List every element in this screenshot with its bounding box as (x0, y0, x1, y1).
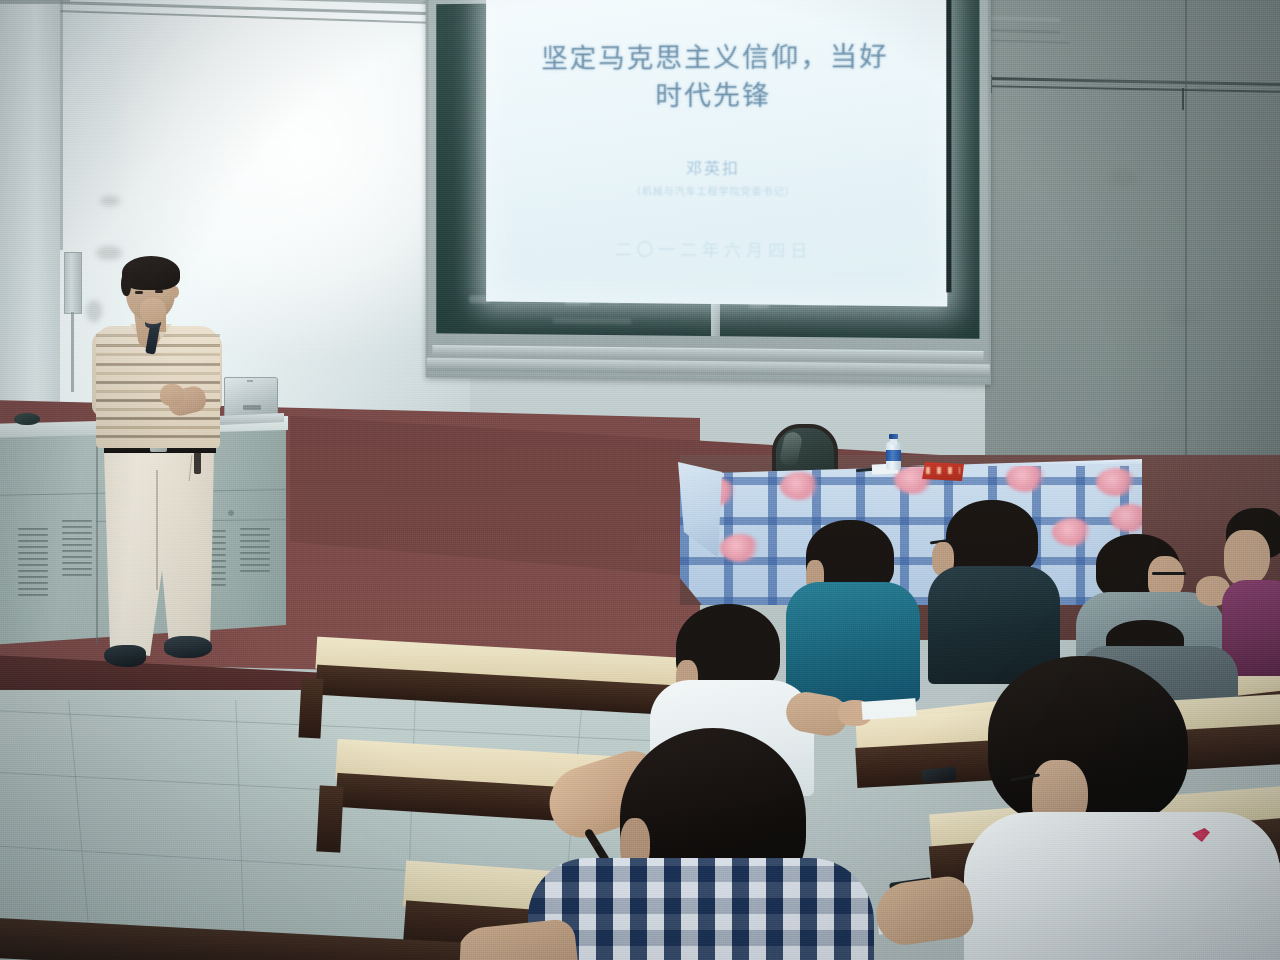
slide-title: 坚定马克思主义信仰，当好 时代先锋 (525, 39, 906, 117)
wall-left-column-edge (60, 0, 63, 250)
laptop-logo (243, 405, 261, 410)
table-name-card-text (926, 467, 960, 474)
chair-behind-head-table (772, 424, 830, 470)
bench-side (298, 677, 323, 738)
laptop-screen (224, 377, 278, 417)
wall-seam (1185, 0, 1187, 470)
computer-mouse (14, 413, 40, 425)
student-forearm (872, 874, 976, 949)
keys-on-belt (194, 452, 201, 474)
slide-author: 邓英扣 (486, 155, 947, 180)
presenter-shoe-right (164, 636, 212, 658)
electrical-box (64, 252, 82, 314)
presenter-hand-holding-mic (140, 298, 166, 324)
paper-on-desk (861, 698, 916, 720)
presenter-gesturing-hand (160, 384, 184, 406)
bench-side (316, 785, 343, 852)
chalkboard-bottom-rail (427, 358, 990, 378)
glasses-icon (1152, 572, 1186, 575)
electrical-conduit (71, 312, 74, 392)
bench-row-2-side (316, 785, 343, 852)
screen-right-edge (946, 0, 951, 292)
lectern-panel-divider (96, 432, 98, 644)
projection-screen: 坚定马克思主义信仰，当好 时代先锋 邓英扣 （机械与汽车工程学院党委书记） 二〇… (486, 0, 947, 307)
presenter-ear (171, 286, 179, 298)
wall-right (985, 0, 1280, 480)
water-bottle (886, 434, 901, 470)
wall-smudge (1108, 170, 1138, 186)
presenter-eye-right (155, 290, 163, 293)
bench-row-1-side (298, 677, 323, 738)
wall-smudge (1168, 308, 1202, 326)
lectern-knob (228, 510, 234, 516)
wall-left-column (0, 0, 60, 410)
presenter-eye-left (135, 291, 143, 294)
slide-affiliation: （机械与汽车工程学院党委书记） (486, 182, 947, 198)
wall-smudge (1130, 430, 1190, 440)
wall-smudge (96, 246, 122, 260)
presentation-slide: 坚定马克思主义信仰，当好 时代先锋 邓英扣 （机械与汽车工程学院党委书记） 二〇… (486, 0, 947, 307)
laptop-hinge-notch (247, 380, 253, 382)
wall-smudge (86, 300, 102, 322)
cable-drop (1182, 88, 1184, 110)
presenter-hair-side (121, 272, 131, 296)
ceiling-trim-left (0, 0, 70, 4)
wall-smudge (100, 196, 120, 206)
head-table-tablecloth (680, 460, 1142, 605)
trouser-seam (156, 470, 158, 590)
bottle-cap (889, 434, 898, 439)
lecture-hall-photo: 坚定马克思主义信仰，当好 时代先锋 邓英扣 （机械与汽车工程学院党委书记） 二〇… (0, 0, 1280, 960)
slide-date: 二〇一二年六月四日 (486, 234, 947, 262)
presenter-shirt (96, 326, 220, 448)
presenter-shoe-left (104, 645, 146, 667)
bottle-label (886, 450, 901, 461)
wall-smudge (1196, 84, 1208, 94)
